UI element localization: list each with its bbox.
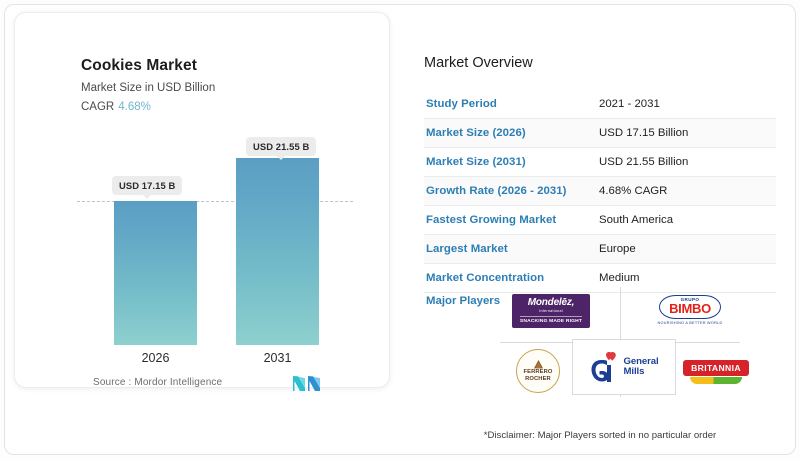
- general-mills-wordmark: General Mills: [623, 357, 658, 377]
- logo-mondelez-icon: Mondelēz, International SNACKING MADE RI…: [512, 294, 590, 328]
- mondelez-subtitle: International: [539, 309, 563, 313]
- bimbo-tagline: NOURISHING A BETTER WORLD: [658, 321, 723, 325]
- bar-2031: [236, 158, 319, 345]
- row-key: Study Period: [424, 98, 599, 110]
- row-key: Fastest Growing Market: [424, 214, 599, 226]
- mondelez-wordmark: Mondelēz,: [528, 298, 575, 308]
- row-value: Medium: [599, 272, 640, 284]
- major-players-label: Major Players: [426, 295, 500, 307]
- row-key: Market Size (2031): [424, 156, 599, 168]
- table-row: Fastest Growing Market South America: [424, 206, 776, 235]
- overview-table: Study Period 2021 - 2031 Market Size (20…: [424, 90, 776, 293]
- table-row: Growth Rate (2026 - 2031) 4.68% CAGR: [424, 177, 776, 206]
- row-value: Europe: [599, 243, 636, 255]
- bar-chart-plot: USD 17.15 B USD 21.55 B 2026 2031: [15, 13, 391, 389]
- row-key: Market Concentration: [424, 272, 599, 284]
- logo-grupo-bimbo-icon: GRUPO BIMBO NOURISHING A BETTER WORLD: [652, 290, 728, 330]
- ferrero-line2: ROCHER: [525, 376, 551, 382]
- bar-label-2031: USD 21.55 B: [246, 137, 316, 156]
- bar-2026: [114, 201, 197, 345]
- x-tick-2026: 2026: [114, 351, 197, 365]
- row-key: Largest Market: [424, 243, 599, 255]
- table-row: Largest Market Europe: [424, 235, 776, 264]
- table-row: Market Size (2026) USD 17.15 Billion: [424, 119, 776, 148]
- britannia-wordmark: BRITANNIA: [683, 360, 749, 376]
- britannia-swoosh-icon: [690, 377, 742, 384]
- source-text: Source : Mordor Intelligence: [93, 377, 222, 388]
- bimbo-wordmark: BIMBO: [669, 302, 711, 315]
- ferrero-seal: FERRERO ROCHER: [516, 349, 560, 393]
- x-tick-2031: 2031: [236, 351, 319, 365]
- ferrero-chocolate-icon: [533, 360, 544, 369]
- bar-label-2026: USD 17.15 B: [112, 176, 182, 195]
- row-value: 2021 - 2031: [599, 98, 660, 110]
- gm-line2: Mills: [623, 367, 658, 377]
- row-value: 4.68% CAGR: [599, 185, 667, 197]
- logo-ferrero-rocher-icon: FERRERO ROCHER: [508, 349, 568, 393]
- row-value: South America: [599, 214, 673, 226]
- row-key: Growth Rate (2026 - 2031): [424, 185, 599, 197]
- disclaimer-text: *Disclaimer: Major Players sorted in no …: [424, 430, 776, 441]
- major-players-logo-grid: Mondelēz, International SNACKING MADE RI…: [500, 287, 740, 397]
- bimbo-pill: GRUPO BIMBO: [659, 295, 721, 320]
- overview-title: Market Overview: [424, 55, 533, 71]
- mondelez-tagline: SNACKING MADE RIGHT: [520, 316, 582, 324]
- logo-general-mills-icon: General Mills: [572, 339, 676, 395]
- market-snapshot-page: Cookies Market Market Size in USD Billio…: [0, 0, 800, 459]
- row-value: USD 17.15 Billion: [599, 127, 688, 139]
- table-row: Study Period 2021 - 2031: [424, 90, 776, 119]
- row-key: Market Size (2026): [424, 127, 599, 139]
- market-overview-panel: Market Overview Study Period 2021 - 2031…: [424, 12, 776, 442]
- chart-card: Cookies Market Market Size in USD Billio…: [14, 12, 390, 388]
- mordor-intelligence-logo: [293, 375, 321, 391]
- row-value: USD 21.55 Billion: [599, 156, 688, 168]
- table-row: Market Size (2031) USD 21.55 Billion: [424, 148, 776, 177]
- logo-britannia-icon: BRITANNIA: [680, 355, 752, 389]
- general-mills-g-icon: [589, 351, 619, 383]
